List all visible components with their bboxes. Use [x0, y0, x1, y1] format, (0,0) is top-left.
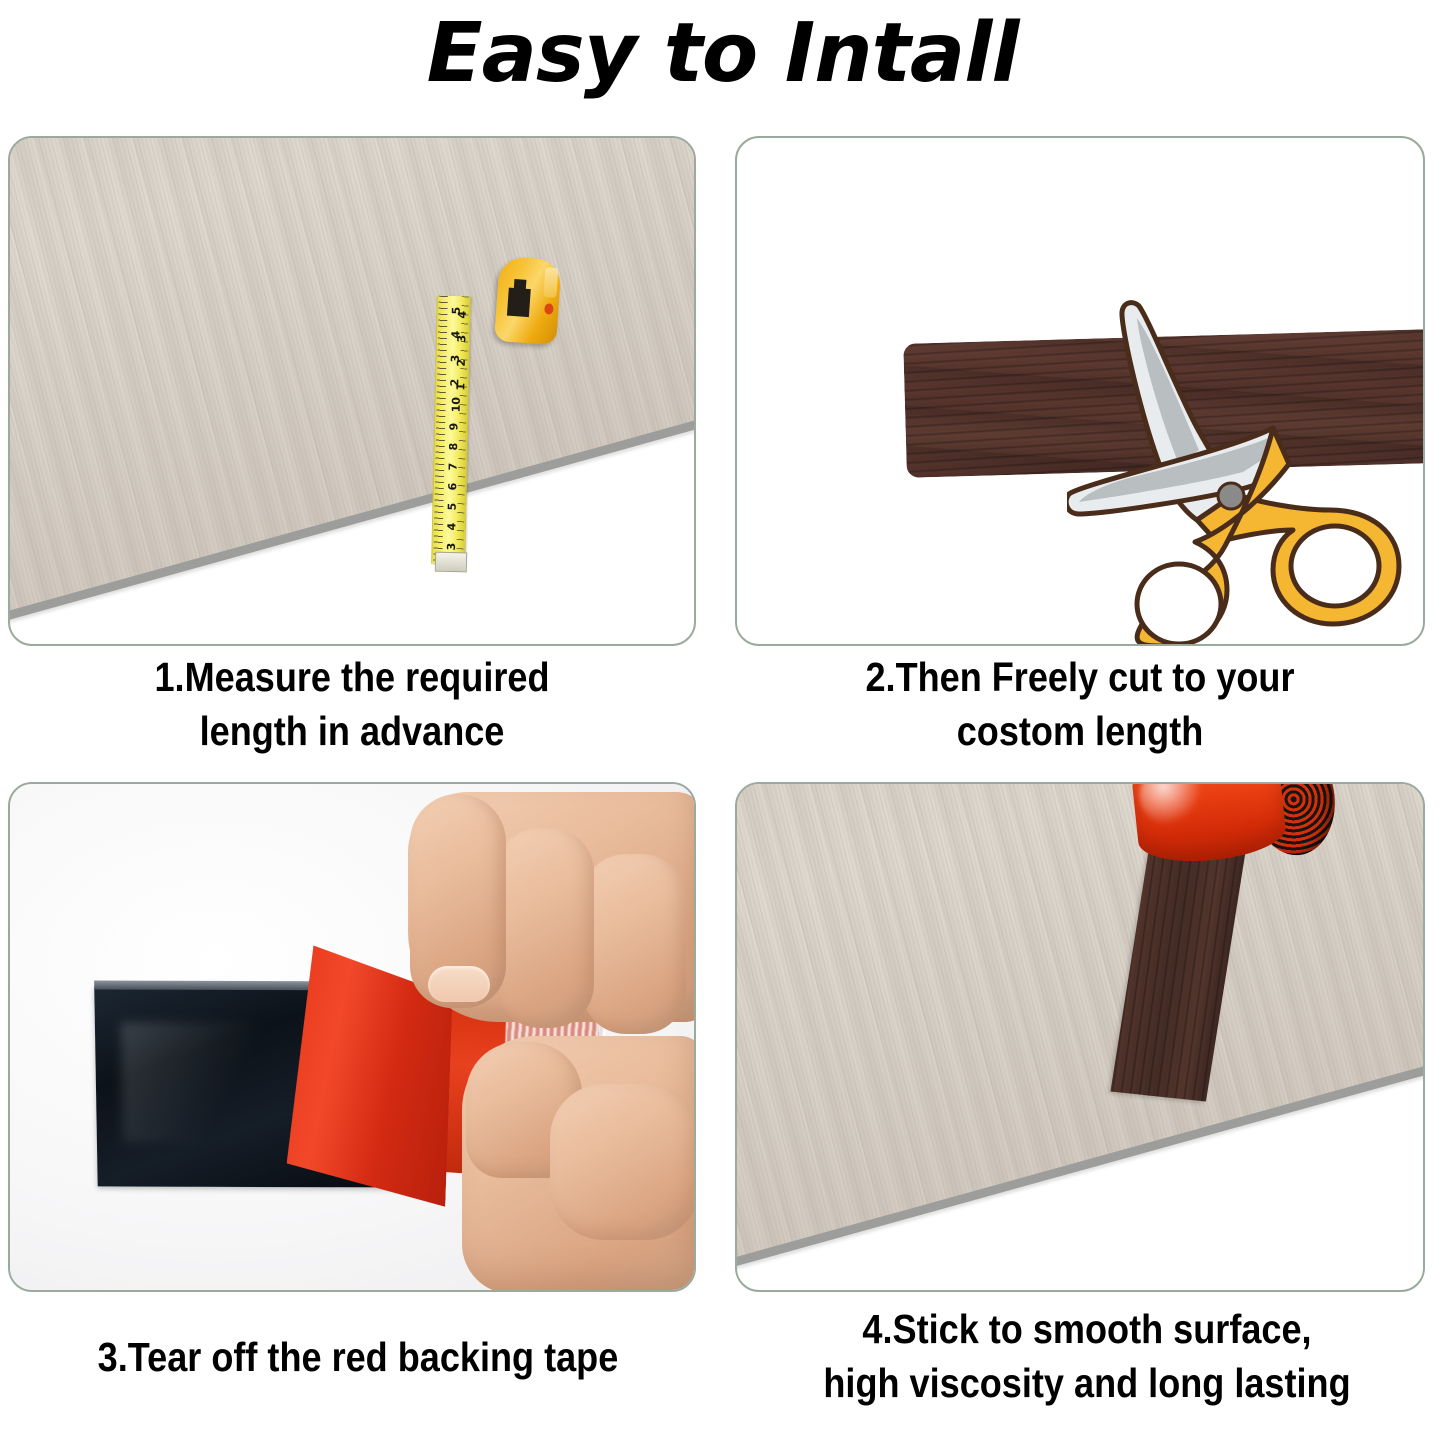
measure-step-image: 5 4 4 3 3 2 2 1 10 9 8 7 6 5 4 3: [8, 136, 696, 646]
thumb-nail: [428, 966, 490, 1002]
peel-step-image: [8, 782, 696, 1292]
tape-measure-release-button-icon: [544, 303, 554, 315]
wood-board-graphic: [735, 782, 1425, 1288]
step-1-caption: 1.Measure the required length in advance: [49, 650, 654, 758]
step-4-caption: 4.Stick to smooth surface, high viscosit…: [772, 1302, 1402, 1410]
stick-step-image: [735, 782, 1425, 1292]
step-3-caption: 3.Tear off the red backing tape: [43, 1330, 673, 1384]
scissors-icon: [1067, 298, 1407, 646]
cut-step-image: [735, 136, 1425, 646]
step-2-caption: 2.Then Freely cut to your costom length: [776, 650, 1383, 758]
lower-hand-finger: [550, 1084, 696, 1240]
wood-board-graphic: [8, 136, 696, 642]
tape-measure-case-icon: [494, 256, 562, 345]
upper-hand-thumb: [410, 794, 506, 1008]
tape-measure-lock-tab-icon: [507, 288, 531, 317]
page-title: Easy to Intall: [0, 2, 1445, 106]
scissors-pivot-icon: [1218, 483, 1244, 509]
upper-hand-finger: [496, 828, 594, 1028]
upper-hand-finger: [582, 854, 686, 1034]
tape-roll-highlight: [1136, 782, 1204, 829]
tape-measure-blade-icon: [431, 296, 471, 565]
tape-roll-red-liner: [1130, 782, 1288, 868]
tape-measure-hook-icon: [435, 552, 467, 573]
tape-measure-label: [543, 267, 558, 298]
